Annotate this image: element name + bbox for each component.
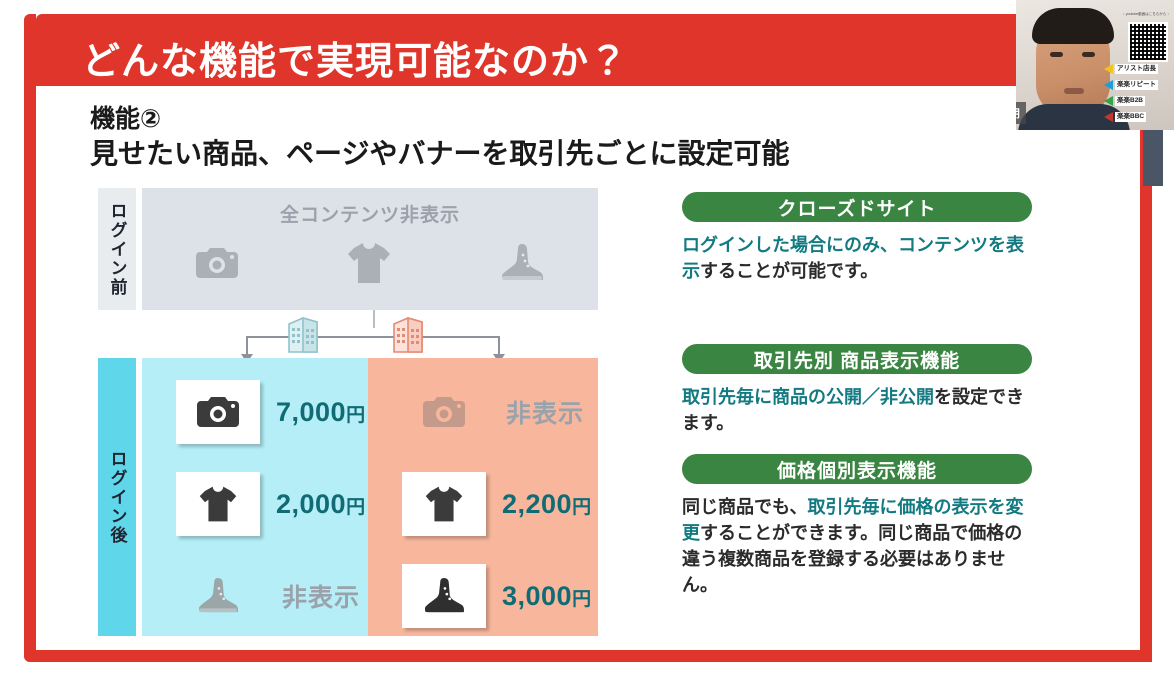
after-login-label-strip: ログイン後 — [98, 358, 136, 636]
product-price: 2,000円 — [276, 489, 366, 520]
product-row: 7,000円 — [142, 370, 368, 454]
diagram-after-login-row: ログイン後 7,000円 2,000円 — [98, 358, 598, 636]
product-thumbnail-hidden — [402, 380, 486, 444]
before-login-label: ログイン前 — [98, 188, 136, 310]
product-row: 2,200円 — [368, 462, 598, 546]
camera-icon — [196, 246, 238, 285]
camera-icon — [422, 395, 466, 429]
presenter-webcam-overlay[interactable]: ↓ youtube動画はこちらから ↓ アリスト店長 楽楽リピート 楽楽B2B … — [1016, 0, 1174, 130]
before-login-panel: 全コンテンツ非表示 — [142, 188, 598, 310]
product-thumbnail-hidden — [176, 564, 260, 628]
product-hidden-label: 非表示 — [506, 394, 584, 430]
boot-icon — [423, 577, 465, 615]
slide-title-bar: どんな機能で実現可能なのか？ — [36, 14, 1152, 86]
tshirt-icon — [346, 240, 392, 291]
product-thumbnail — [176, 472, 260, 536]
slide-frame: どんな機能で実現可能なのか？ 機能② 見せたい商品、ページやバナーを取引先ごとに… — [0, 0, 1174, 676]
feature-highlight-text: ログインした場合にのみ、コンテンツ — [682, 235, 988, 255]
feature-title-badge: 取引先別 商品表示機能 — [682, 344, 1032, 374]
feature-title-badge: 価格個別表示機能 — [682, 454, 1032, 484]
feature-block-price-display: 価格個別表示機能 同じ商品でも、取引先毎に価格の表示を変更することができます。同… — [682, 454, 1032, 598]
boot-icon — [197, 577, 239, 615]
frame-border-left — [24, 14, 36, 662]
product-thumbnail — [402, 472, 486, 536]
section-description-heading: 見せたい商品、ページやバナーを取引先ごとに設定可能 — [90, 136, 789, 172]
tshirt-icon — [424, 484, 464, 524]
building-icon-blue — [283, 312, 327, 361]
feature-description: ログインした場合にのみ、コンテンツを表示することが可能です。 — [682, 232, 1032, 284]
boot-icon — [500, 243, 544, 288]
before-login-label-strip: ログイン前 — [98, 188, 136, 310]
feature-plain-text: を設定 — [934, 387, 988, 407]
product-row: 非表示 — [142, 554, 368, 638]
presenter-name-wrap: 山本 皓一朗 — [1016, 0, 1174, 130]
slide-title: どんな機能で実現可能なのか？ — [82, 38, 628, 86]
frame-border-bottom — [24, 650, 1152, 662]
feature-description: 同じ商品でも、取引先毎に価格の表示を変更することができます。同じ商品で価格の違う… — [682, 494, 1032, 598]
before-login-icon-row — [142, 234, 598, 296]
tshirt-icon — [198, 484, 238, 524]
feature-diagram: ログイン前 全コンテンツ非表示 — [98, 188, 598, 636]
product-hidden-label: 非表示 — [282, 578, 360, 614]
product-thumbnail — [402, 564, 486, 628]
camera-icon — [196, 395, 240, 429]
feature-block-closed-site: クローズドサイト ログインした場合にのみ、コンテンツを表示することが可能です。 — [682, 192, 1032, 284]
after-login-label: ログイン後 — [98, 358, 136, 636]
presenter-name-label: 山本 皓一朗 — [1016, 102, 1026, 124]
feature-highlight-text: 取引先毎に商品の公開／非公開 — [682, 387, 934, 407]
feature-title-badge: クローズドサイト — [682, 192, 1032, 222]
diagram-connector — [98, 310, 598, 358]
product-price: 3,000円 — [502, 581, 592, 612]
webcam-side-accent-bar — [1143, 130, 1163, 186]
product-thumbnail — [176, 380, 260, 444]
customer-column-blue: 7,000円 2,000円 非表示 — [142, 358, 368, 636]
product-price: 7,000円 — [276, 397, 366, 428]
product-row: 2,000円 — [142, 462, 368, 546]
feature-plain-text-2: することができます。 — [700, 523, 878, 543]
feature-block-product-display: 取引先別 商品表示機能 取引先毎に商品の公開／非公開を設定できます。 — [682, 344, 1032, 436]
product-row: 非表示 — [368, 370, 598, 454]
connector-stub — [373, 310, 375, 328]
diagram-before-login-row: ログイン前 全コンテンツ非表示 — [98, 188, 598, 310]
feature-plain-text: 同じ商品でも、 — [682, 497, 807, 517]
all-content-hidden-caption: 全コンテンツ非表示 — [142, 200, 598, 227]
product-row: 3,000円 — [368, 554, 598, 638]
feature-plain-text: することが可能です。 — [700, 261, 878, 281]
section-number-heading: 機能② — [90, 103, 161, 135]
feature-description: 取引先毎に商品の公開／非公開を設定できます。 — [682, 384, 1032, 436]
customer-column-orange: 非表示 2,200円 3,000円 — [368, 358, 598, 636]
product-price: 2,200円 — [502, 489, 592, 520]
building-icon-red — [388, 312, 432, 361]
